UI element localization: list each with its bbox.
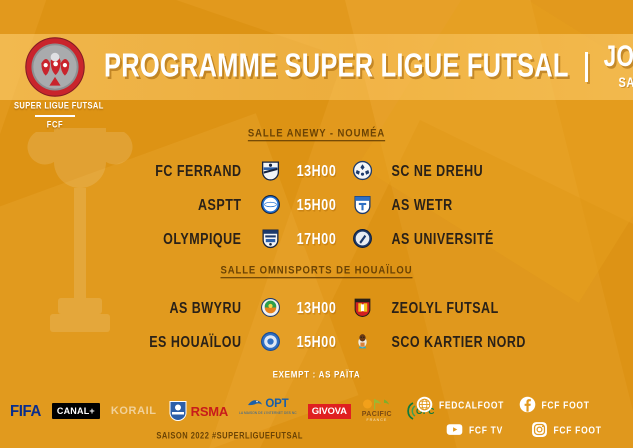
- venue-section-anewy: SALLE ANEWY - NOUMÉA FC FERRAND 13H00 SC…: [0, 128, 633, 257]
- matchday-date: SAMEDI 23 AVRIL: [604, 76, 633, 91]
- venue-section-houailou: SALLE OMNISPORTS DE HOUAÏLOU AS BWYRU 13…: [0, 265, 633, 379]
- asptt-crest-icon: [256, 194, 286, 215]
- olympique-crest-icon: [256, 228, 286, 249]
- korail-label: KORAIL: [111, 405, 157, 417]
- fcf-crest-icon: [24, 36, 86, 98]
- korail-logo: KORAIL: [111, 398, 157, 424]
- home-team-name: ASPTT: [91, 196, 256, 214]
- youtube-icon: [446, 421, 463, 438]
- es-houailou-crest-icon: [256, 331, 286, 352]
- as-universite-crest-icon: [348, 228, 378, 249]
- social-label: FCF FOOT: [554, 424, 602, 436]
- title-separator: [585, 52, 588, 82]
- social-label: FCF TV: [469, 424, 503, 436]
- match-row: AS BWYRU 13H00 ZEOLYL FUTSAL: [0, 292, 633, 323]
- matchday-block: JOURNÉE 4 SAMEDI 23 AVRIL: [604, 44, 633, 89]
- opt-bird-icon: [247, 398, 263, 410]
- social-links: FEDCALFOOT FCF FOOT FCF TV: [416, 392, 621, 442]
- canal-plus-logo: CANAL+: [52, 398, 100, 424]
- social-link-youtube[interactable]: FCF TV: [416, 417, 519, 442]
- brand-rule: [35, 115, 75, 117]
- instagram-icon: [531, 421, 548, 438]
- website-icon: [416, 396, 433, 413]
- away-team-name: AS WETR: [378, 196, 543, 214]
- canal-plus-label: CANAL+: [52, 403, 100, 419]
- fifa-label: FIFA: [10, 402, 41, 420]
- matchday-label: JOURNÉE 4: [604, 40, 633, 74]
- pacific-sun-palm-icon: [362, 398, 392, 411]
- fifa-logo: FIFA: [10, 398, 41, 424]
- brand-subtitle: SUPER LIGUE FUTSAL: [14, 100, 96, 111]
- fc-ferrand-crest-icon: [256, 160, 286, 181]
- rsma-label: RSMA: [191, 404, 228, 419]
- social-link-website[interactable]: FEDCALFOOT: [416, 392, 519, 417]
- social-link-facebook[interactable]: FCF FOOT: [519, 392, 622, 417]
- givova-label: GIVOVA: [308, 404, 351, 419]
- page-title: PROGRAMME SUPER LIGUE FUTSAL: [104, 48, 569, 86]
- exempt-note: EXEMPT : AS PAÏTA: [0, 369, 633, 380]
- home-team-name: OLYMPIQUE: [91, 230, 256, 248]
- federation-branding: SUPER LIGUE FUTSAL FCF: [14, 34, 96, 129]
- ofc-arc-icon: [403, 401, 416, 421]
- as-wetr-crest-icon: [348, 194, 378, 215]
- away-team-name: SCO KARTIER NORD: [378, 333, 543, 351]
- match-list: FC FERRAND 13H00 SC NE DREHU ASPTT 15H00: [0, 155, 633, 254]
- futsal-schedule-poster: SUPER LIGUE FUTSAL FCF PROGRAMME SUPER L…: [0, 0, 633, 448]
- sco-kartier-nord-crest-icon: [348, 331, 378, 352]
- venue-title: SALLE OMNISPORTS DE HOUAÏLOU: [0, 264, 633, 277]
- opt-label: OPT: [265, 398, 288, 410]
- sponsor-strip: FIFA CANAL+ KORAIL RSMA: [10, 396, 435, 426]
- facebook-icon: [519, 396, 536, 413]
- opt-logo: OPT LA MAISON DE L'INTERNET DES NC: [239, 398, 297, 424]
- away-team-name: ZEOLYL FUTSAL: [378, 299, 543, 317]
- sc-ne-drehu-crest-icon: [348, 160, 378, 181]
- venue-title: SALLE ANEWY - NOUMÉA: [0, 127, 633, 140]
- opt-sublabel: LA MAISON DE L'INTERNET DES NC: [239, 411, 297, 415]
- pacific-label: PACIFIC: [362, 411, 392, 418]
- match-time: 17H00: [286, 230, 348, 248]
- header-title-row: PROGRAMME SUPER LIGUE FUTSAL JOURNÉE 4 S…: [104, 44, 633, 89]
- social-link-instagram[interactable]: FCF FOOT: [519, 417, 622, 442]
- match-row: OLYMPIQUE 17H00 AS UNIVERSITÉ: [0, 223, 633, 254]
- season-hashtag: SAISON 2022 #SUPERLIGUEFUTSAL: [156, 430, 303, 441]
- social-label: FEDCALFOOT: [439, 399, 504, 411]
- home-team-name: AS BWYRU: [91, 299, 256, 317]
- match-time: 15H00: [286, 196, 348, 214]
- match-time: 13H00: [286, 299, 348, 317]
- away-team-name: AS UNIVERSITÉ: [378, 230, 543, 248]
- social-label: FCF FOOT: [542, 399, 590, 411]
- match-time: 15H00: [286, 333, 348, 351]
- footer: FIFA CANAL+ KORAIL RSMA: [0, 386, 633, 448]
- zeolyl-futsal-crest-icon: [348, 297, 378, 318]
- home-team-name: ES HOUAÏLOU: [91, 333, 256, 351]
- givova-logo: GIVOVA: [308, 398, 351, 424]
- match-list: AS BWYRU 13H00 ZEOLYL FUTSAL ES HOUAÏLOU…: [0, 292, 633, 357]
- match-row: ES HOUAÏLOU 15H00 SCO KARTIER NORD: [0, 326, 633, 357]
- home-team-name: FC FERRAND: [91, 162, 256, 180]
- match-time: 13H00: [286, 162, 348, 180]
- pacific-sublabel: FRANCE: [366, 418, 387, 422]
- as-bwyru-crest-icon: [256, 297, 286, 318]
- rsma-logo: RSMA: [168, 398, 228, 424]
- match-row: ASPTT 15H00 AS WETR: [0, 189, 633, 220]
- rsma-shield-icon: [168, 400, 188, 422]
- pacific-logo: PACIFIC FRANCE: [362, 398, 392, 424]
- away-team-name: SC NE DREHU: [378, 162, 543, 180]
- match-row: FC FERRAND 13H00 SC NE DREHU: [0, 155, 633, 186]
